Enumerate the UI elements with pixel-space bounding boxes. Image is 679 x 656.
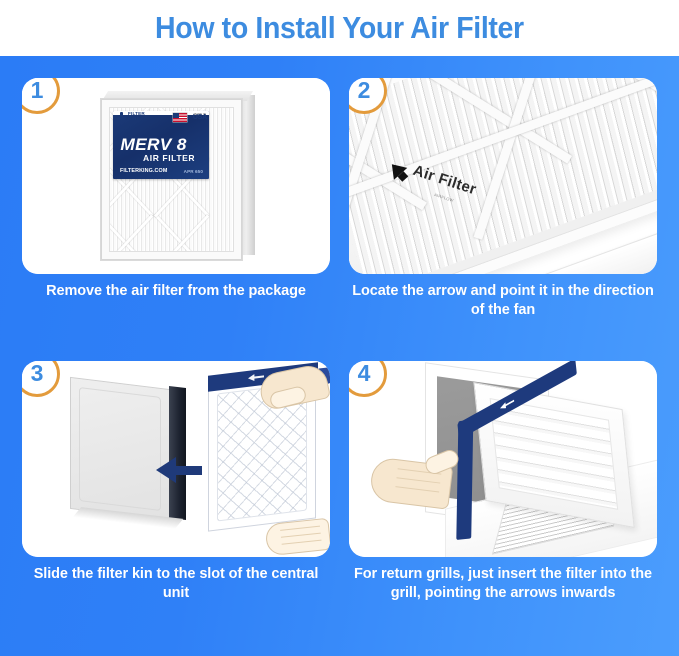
steps-grid: FILTER KING MADE IN USA MERV 8 xyxy=(0,56,679,656)
filter-corner-closeup: Air Filter AIRFLOW xyxy=(349,78,657,274)
merv8-filter-photo: FILTER KING MADE IN USA MERV 8 xyxy=(22,78,330,274)
arrow-shaft xyxy=(174,466,202,475)
slot-face xyxy=(70,377,170,521)
filter-product-label: FILTER KING MADE IN USA MERV 8 xyxy=(113,111,209,179)
step-card-3: 3 xyxy=(22,361,330,557)
crown-icon xyxy=(117,112,126,121)
slot-opening-dark xyxy=(169,386,186,520)
filter-navy-edges xyxy=(455,385,584,524)
step-caption-1: Remove the air filter from the package xyxy=(22,282,330,301)
brand-name: FILTER KING xyxy=(128,112,145,121)
arrow-head xyxy=(156,457,176,483)
hand-bottom xyxy=(265,518,330,557)
filter-into-slot-illustration xyxy=(22,361,330,557)
brand-line-2: KING xyxy=(128,117,145,121)
air-filter-product: FILTER KING MADE IN USA MERV 8 xyxy=(100,88,255,261)
step-card-4: 4 xyxy=(349,361,657,557)
filter-corner-arrow-photo: Air Filter AIRFLOW xyxy=(349,78,657,274)
country-text: USA xyxy=(193,116,207,120)
step-card-1: FILTER KING MADE IN USA MERV 8 xyxy=(22,78,330,274)
step-panel-1: FILTER KING MADE IN USA MERV 8 xyxy=(22,78,330,360)
infographic-root: How to Install Your Air Filter xyxy=(0,0,679,656)
central-unit-slot xyxy=(70,375,186,521)
header-bar: How to Install Your Air Filter xyxy=(0,0,679,56)
filter-front-face: FILTER KING MADE IN USA MERV 8 xyxy=(100,98,243,261)
slot-inner-outline xyxy=(79,387,161,511)
insert-direction-arrow-icon xyxy=(156,457,202,483)
filter-king-logo: FILTER KING xyxy=(117,112,145,121)
step-caption-4: For return grills, just insert the filte… xyxy=(349,565,657,603)
step-panel-3: 3 Slide the filter kin to the slot of th… xyxy=(22,361,330,651)
page-title: How to Install Your Air Filter xyxy=(155,10,524,46)
step-number-4: 4 xyxy=(358,362,371,385)
step-caption-3: Slide the filter kin to the slot of the … xyxy=(22,565,330,603)
step-caption-2: Locate the arrow and point it in the dir… xyxy=(349,282,657,320)
step-number-3: 3 xyxy=(31,362,44,385)
step-panel-4: 4 For return grills, just insert the fil… xyxy=(349,361,657,651)
step-card-2: Air Filter AIRFLOW 2 xyxy=(349,78,657,274)
usa-flag-icon xyxy=(173,113,187,122)
made-in-usa: MADE IN USA xyxy=(193,112,207,120)
website-text: FILTERKING.COM xyxy=(120,168,167,174)
return-grill-illustration xyxy=(349,361,657,557)
apr-rating-text: APR 650 xyxy=(184,169,203,174)
product-type-text: AIR FILTER xyxy=(143,153,195,163)
step-panel-2: Air Filter AIRFLOW 2 Locate the arrow an… xyxy=(349,78,657,360)
merv-rating-text: MERV 8 xyxy=(120,135,186,155)
step-number-1: 1 xyxy=(31,79,44,102)
step-number-2: 2 xyxy=(358,79,371,102)
filter-left-bar xyxy=(456,420,473,540)
